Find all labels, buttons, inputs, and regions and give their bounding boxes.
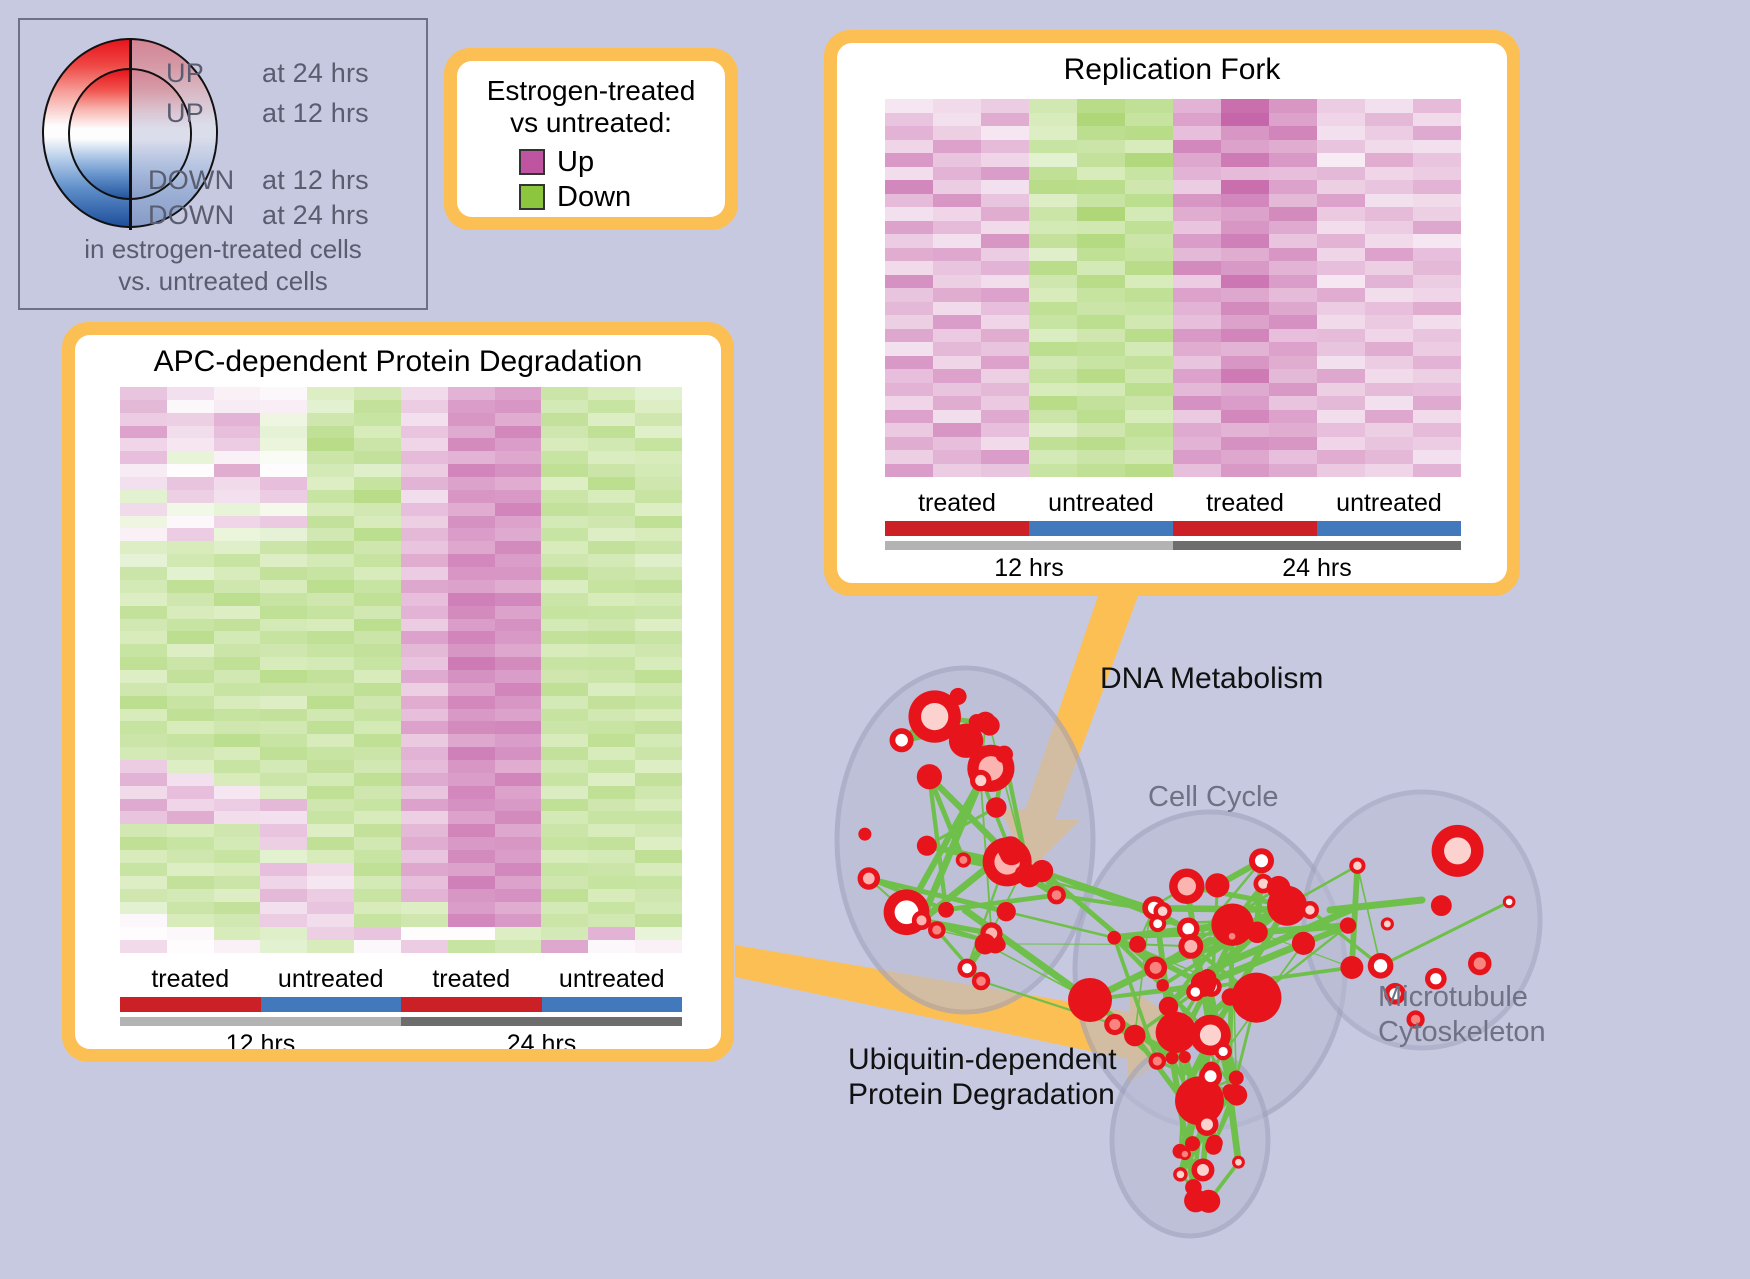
network-node[interactable] [1191,1158,1214,1181]
network-node[interactable] [858,867,881,890]
node-inner-core [1444,837,1471,864]
heatmap-cell [933,261,981,275]
network-node[interactable] [1178,934,1203,959]
heatmap-cell [1317,140,1365,154]
heatmap-cell [588,914,635,927]
network-node[interactable] [1173,1167,1188,1182]
node-inner-core [1201,1118,1213,1130]
network-node[interactable] [1107,931,1121,945]
network-node[interactable] [1206,1135,1222,1151]
heatmap-cell [448,850,495,863]
heatmap-cell [541,631,588,644]
heatmap-cell [307,541,354,554]
heatmap-cell [1029,342,1077,356]
heatmap-cell [1269,126,1317,140]
heatmap-cell [885,126,933,140]
node-inner-core [1153,1057,1162,1066]
node-inner-core [1182,923,1194,935]
network-node[interactable] [858,828,871,841]
heatmap-cell [1317,437,1365,451]
heatmap-cell [354,503,401,516]
heatmap-cell [1317,423,1365,437]
heatmap-cell [541,914,588,927]
heatmap-cell [541,490,588,503]
heatmap-cell [120,786,167,799]
heatmap-cell [354,889,401,902]
heatmap-cell [588,438,635,451]
heatmap-cell [1413,248,1461,262]
heatmap-cell [401,902,448,915]
heatmap-cell [1365,464,1413,478]
heatmap-cell [354,477,401,490]
heatmap-cell [214,426,261,439]
heatmap-cell [588,464,635,477]
heatmap-cell [541,786,588,799]
network-node[interactable] [928,921,946,939]
network-node[interactable] [1368,953,1394,979]
heatmap-cell [588,554,635,567]
heatmap-cell [1269,113,1317,127]
heatmap-cell [635,644,682,657]
network-node[interactable] [972,972,990,990]
heatmap-cell [260,747,307,760]
heatmap-cell [167,927,214,940]
heatmap-cell [354,580,401,593]
heatmap-cell [167,464,214,477]
heatmap-cell [214,824,261,837]
network-node[interactable] [950,688,967,705]
heatmap-cell [354,850,401,863]
heatmap-cell [885,167,933,181]
treatment-labels-apc: treated untreated treated untreated [120,965,682,994]
heatmap-cell [260,567,307,580]
heatmap-cell [167,889,214,902]
heatmap-cell [307,554,354,567]
heatmap-cell [167,747,214,760]
heatmap-cell [1029,356,1077,370]
network-node[interactable] [1149,1052,1166,1069]
heatmap-cell [354,799,401,812]
heatmap-cell [448,426,495,439]
network-node[interactable] [917,764,942,789]
network-node[interactable] [1468,952,1492,976]
time-labels-rep: 12 hrs 24 hrs [885,554,1461,583]
heatmap-cell [307,567,354,580]
node-inner-core [1177,1171,1185,1179]
heatmap-cell [1365,329,1413,343]
heatmap-cell [401,850,448,863]
node-outer-ring [1431,895,1452,916]
heatmap-cell [307,683,354,696]
heatmap-cell [541,567,588,580]
heatmap-cell [1077,464,1125,478]
heatmap-cell [167,619,214,632]
heatmap-cell [448,619,495,632]
heatmap-cell [167,477,214,490]
heatmap-cell [120,709,167,722]
network-node[interactable] [1129,936,1146,953]
heatmap-cell [1077,221,1125,235]
heatmap-cell [214,747,261,760]
heatmap-cell [120,477,167,490]
heatmap-cell [120,824,167,837]
network-node[interactable] [1381,917,1394,930]
heatmap-cell [167,721,214,734]
heatmap-cell [1029,423,1077,437]
network-node[interactable] [975,933,996,954]
heatmap-cell [541,683,588,696]
network-node[interactable] [1205,873,1229,897]
heatmap-cell [885,329,933,343]
heatmap-cell [635,619,682,632]
treatment-label: treated [401,965,542,994]
node-outer-ring [858,828,871,841]
heatmap-cell [120,837,167,850]
network-node[interactable] [970,770,992,792]
heatmap-cell [981,140,1029,154]
node-color-legend: UPat 24 hrs UPat 12 hrs DOWNat 12 hrs DO… [18,18,428,310]
heatmap-cell [120,734,167,747]
heatmap-cell [120,773,167,786]
node-legend-caption: in estrogen-treated cells vs. untreated … [20,234,426,297]
heatmap-cell [885,437,933,451]
heatmap-cell [495,387,542,400]
heatmap-cell [1221,180,1269,194]
heatmap-cell [635,760,682,773]
heatmap-cell [354,940,401,953]
heatmap-cell [167,426,214,439]
heatmap-cell [260,683,307,696]
network-node[interactable] [1068,978,1112,1022]
heatmap-cell [307,889,354,902]
cluster-label-dna-metabolism: DNA Metabolism [1100,662,1323,696]
heatmap-cell [120,619,167,632]
heatmap-cell [448,889,495,902]
heatmap-cell [1269,423,1317,437]
heatmap-cell [120,567,167,580]
heatmap-cell [495,580,542,593]
heatmap-cell [354,606,401,619]
network-node[interactable] [1156,979,1168,991]
network-node[interactable] [1232,1156,1245,1169]
heatmap-cell [933,99,981,113]
node-inner-core [1219,1047,1228,1056]
heatmap-cell [885,315,933,329]
heatmap-cell [167,863,214,876]
node-inner-core [1200,1025,1221,1046]
heatmap-cell [981,383,1029,397]
heatmap-cell [1173,464,1221,478]
heatmap-cell [981,275,1029,289]
heatmap-cell [981,180,1029,194]
heatmap-cell [885,113,933,127]
heatmap-cell [214,876,261,889]
heatmap-cell [541,721,588,734]
node-inner-core [1197,1164,1209,1176]
network-node[interactable] [1144,956,1167,979]
network-node[interactable] [1197,1190,1220,1213]
heatmap-cell [448,799,495,812]
network-node[interactable] [917,836,937,856]
heatmap-cell [1317,99,1365,113]
network-node[interactable] [1431,895,1452,916]
network-node[interactable] [1226,930,1239,943]
heatmap-cell [1173,167,1221,181]
heatmap-cell [1317,194,1365,208]
network-node[interactable] [1179,1051,1191,1063]
network-node[interactable] [1104,1014,1125,1035]
legend-center-divider [129,38,132,230]
heatmap-cell [214,837,261,850]
heatmap-cell [1125,113,1173,127]
legend-row-down-12: DOWNat 12 hrs [148,165,369,196]
heatmap-cell [167,490,214,503]
heatmap-cell [1269,450,1317,464]
heatmap-cell [1077,248,1125,262]
node-inner-core [932,925,941,934]
heatmap-cell [1365,221,1413,235]
heatmap-cell [541,464,588,477]
heatmap-cell [541,696,588,709]
heatmap-cell [541,876,588,889]
heatmap-cell [1221,410,1269,424]
treatment-bar-segment [1173,521,1317,536]
heatmap-cell [1317,153,1365,167]
network-node[interactable] [1432,825,1484,877]
heatmap-cell [1029,153,1077,167]
legend-key-up-24: UP [166,58,262,89]
heatmap-cell [588,541,635,554]
heatmap-cell [1125,369,1173,383]
network-node[interactable] [1267,876,1291,900]
network-node[interactable] [1191,1082,1211,1102]
heatmap-cell [933,329,981,343]
heatmap-cell [1173,450,1221,464]
heatmap-cell [588,619,635,632]
heatmap-cell [260,503,307,516]
network-node[interactable] [912,911,931,930]
heatmap-cell [448,721,495,734]
heatmap-cell [495,683,542,696]
heatmap-cell [448,438,495,451]
heatmap-cell [120,593,167,606]
heatmap-cell [307,606,354,619]
network-node[interactable] [1249,848,1274,873]
heatmap-cell [635,889,682,902]
heatmap-cell [933,342,981,356]
heatmap-cell [635,464,682,477]
heatmap-cell [1077,167,1125,181]
heatmap-cell [214,734,261,747]
heatmap-cell [354,413,401,426]
heatmap-cell [354,786,401,799]
heatmap-cell [448,670,495,683]
heatmap-cell [167,593,214,606]
heatmap-cell [495,863,542,876]
legend-item-down-label: Down [557,181,631,214]
heatmap-cell [448,387,495,400]
heatmap-cell [981,261,1029,275]
heatmap-cell [635,670,682,683]
network-node[interactable] [1301,901,1319,919]
heatmap-cell [635,850,682,863]
network-node[interactable] [1195,1113,1218,1136]
heatmap-cell [214,902,261,915]
treatment-label: untreated [1029,489,1173,518]
heatmap-cell [495,914,542,927]
heatmap-cell [933,423,981,437]
network-node[interactable] [1222,988,1239,1005]
apc-degradation-panel: APC-dependent Protein Degradation treate… [62,322,734,1062]
heatmap-cell [495,799,542,812]
heatmap-cell [448,773,495,786]
heatmap-cell [307,760,354,773]
heatmap-cell [354,696,401,709]
node-outer-ring [1107,931,1121,945]
heatmap-cell [1413,423,1461,437]
heatmap-cell [1077,99,1125,113]
heatmap-cell [1125,329,1173,343]
network-node[interactable] [1503,896,1516,909]
heatmap-cell [214,516,261,529]
heatmap-cell [260,811,307,824]
heatmap-cell [541,619,588,632]
node-outer-ring [1191,1082,1211,1102]
node-outer-ring [1000,842,1024,866]
network-node[interactable] [1186,983,1204,1001]
heatmap-cell [1029,261,1077,275]
network-node[interactable] [1031,860,1053,882]
heatmap-cell [1029,113,1077,127]
heatmap-cell [885,383,933,397]
network-node[interactable] [1340,956,1363,979]
heatmap-cell [635,811,682,824]
heatmap-cell [1029,464,1077,478]
heatmap-cell [214,554,261,567]
heatmap-cell [588,593,635,606]
heatmap-cell [981,288,1029,302]
heatmap-cell [981,153,1029,167]
network-node[interactable] [938,902,954,918]
heatmap-cell [1029,437,1077,451]
network-node[interactable] [1000,842,1024,866]
heatmap-cell [401,709,448,722]
heatmap-cell [167,528,214,541]
legend-when-up-12: at 12 hrs [262,98,369,129]
network-node[interactable] [1047,886,1066,905]
node-outer-ring [1159,997,1178,1016]
heatmap-cell [214,619,261,632]
heatmap-cell [307,528,354,541]
heatmap-cell [1029,167,1077,181]
legend-item-up: Up [519,146,709,179]
time-color-bar-rep [885,541,1461,550]
heatmap-cell [1221,450,1269,464]
heatmap-cell [401,786,448,799]
heatmap-cell [635,773,682,786]
heatmap-cell [1269,437,1317,451]
heatmap-cell [588,850,635,863]
replication-fork-title: Replication Fork [837,43,1507,87]
network-node[interactable] [1224,1084,1242,1102]
heatmap-cell [120,889,167,902]
node-outer-ring [1340,956,1363,979]
heatmap-cell [167,940,214,953]
network-node[interactable] [957,959,976,978]
heatmap-cell [495,490,542,503]
heatmap-cell [120,811,167,824]
heatmap-cell [120,631,167,644]
network-node[interactable] [890,728,914,752]
heatmap-cell [885,396,933,410]
network-node[interactable] [1229,1070,1244,1085]
heatmap-cell [307,438,354,451]
heatmap-cell [307,721,354,734]
network-node[interactable] [1166,1051,1179,1064]
time-bar-segment [1173,541,1461,550]
heatmap-cell [354,490,401,503]
heatmap-cell [167,438,214,451]
heatmap-cell [885,248,933,262]
heatmap-cell [307,580,354,593]
heatmap-cell [120,554,167,567]
heatmap-cell [354,554,401,567]
heatmap-cell [588,811,635,824]
heatmap-cell [495,593,542,606]
network-node[interactable] [1214,1043,1232,1061]
network-node[interactable] [956,852,971,867]
heatmap-cell [1413,140,1461,154]
heatmap-cell [541,889,588,902]
node-inner-core [976,976,986,986]
network-node[interactable] [995,746,1013,764]
network-node[interactable] [969,714,985,730]
network-node[interactable] [1185,1136,1200,1151]
heatmap-cell [981,113,1029,127]
down-color-swatch [519,184,545,210]
node-outer-ring [975,933,996,954]
heatmap-cell [1365,369,1413,383]
network-node[interactable] [1292,932,1315,955]
network-node[interactable] [1169,869,1204,904]
network-node[interactable] [1124,1025,1146,1047]
heatmap-cell [1077,180,1125,194]
heatmap-cell [1221,383,1269,397]
heatmap-cell [495,451,542,464]
node-outer-ring [995,746,1013,764]
heatmap-cell [260,451,307,464]
node-inner-core [959,856,967,864]
heatmap-cell [354,824,401,837]
heatmap-cell [1413,464,1461,478]
heatmap-cell [307,464,354,477]
heatmap-cell [120,438,167,451]
heatmap-cell [120,541,167,554]
network-node[interactable] [996,902,1015,921]
heatmap-cell [1173,140,1221,154]
network-node[interactable] [1340,917,1356,933]
heatmap-cell [260,593,307,606]
network-node[interactable] [1159,997,1178,1016]
network-node[interactable] [986,797,1007,818]
heatmap-cell [885,464,933,478]
heatmap-cell [401,927,448,940]
network-node[interactable] [1349,858,1365,874]
heatmap-cell [401,644,448,657]
network-node[interactable] [1153,902,1171,920]
heatmap-cell [885,99,933,113]
network-node[interactable] [1229,910,1251,932]
